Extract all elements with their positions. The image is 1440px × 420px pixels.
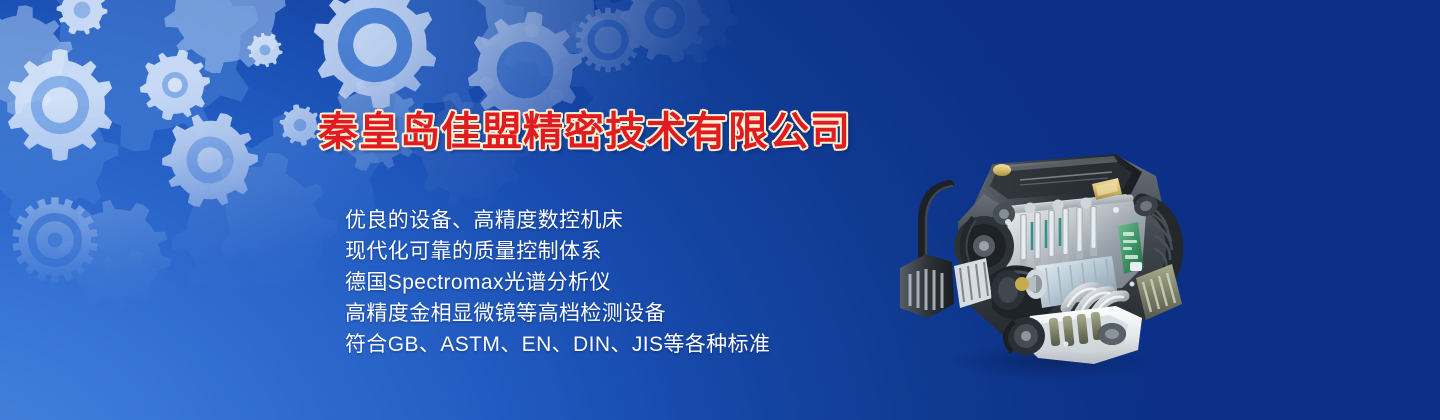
feature-list: 优良的设备、高精度数控机床 现代化可靠的质量控制体系 德国Spectromax光… <box>345 205 770 360</box>
list-item: 符合GB、ASTM、EN、DIN、JIS等各种标准 <box>345 329 770 360</box>
company-promo-banner: 秦皇岛佳盟精密技术有限公司 优良的设备、高精度数控机床 现代化可靠的质量控制体系… <box>0 0 1440 420</box>
list-item: 现代化可靠的质量控制体系 <box>345 236 770 267</box>
list-item: 德国Spectromax光谱分析仪 <box>345 267 770 298</box>
page-title: 秦皇岛佳盟精密技术有限公司 <box>318 99 851 157</box>
cutaway-car-engine-illustration <box>880 118 1210 388</box>
list-item: 高精度金相显微镜等高档检测设备 <box>345 298 770 329</box>
list-item: 优良的设备、高精度数控机床 <box>345 205 770 236</box>
